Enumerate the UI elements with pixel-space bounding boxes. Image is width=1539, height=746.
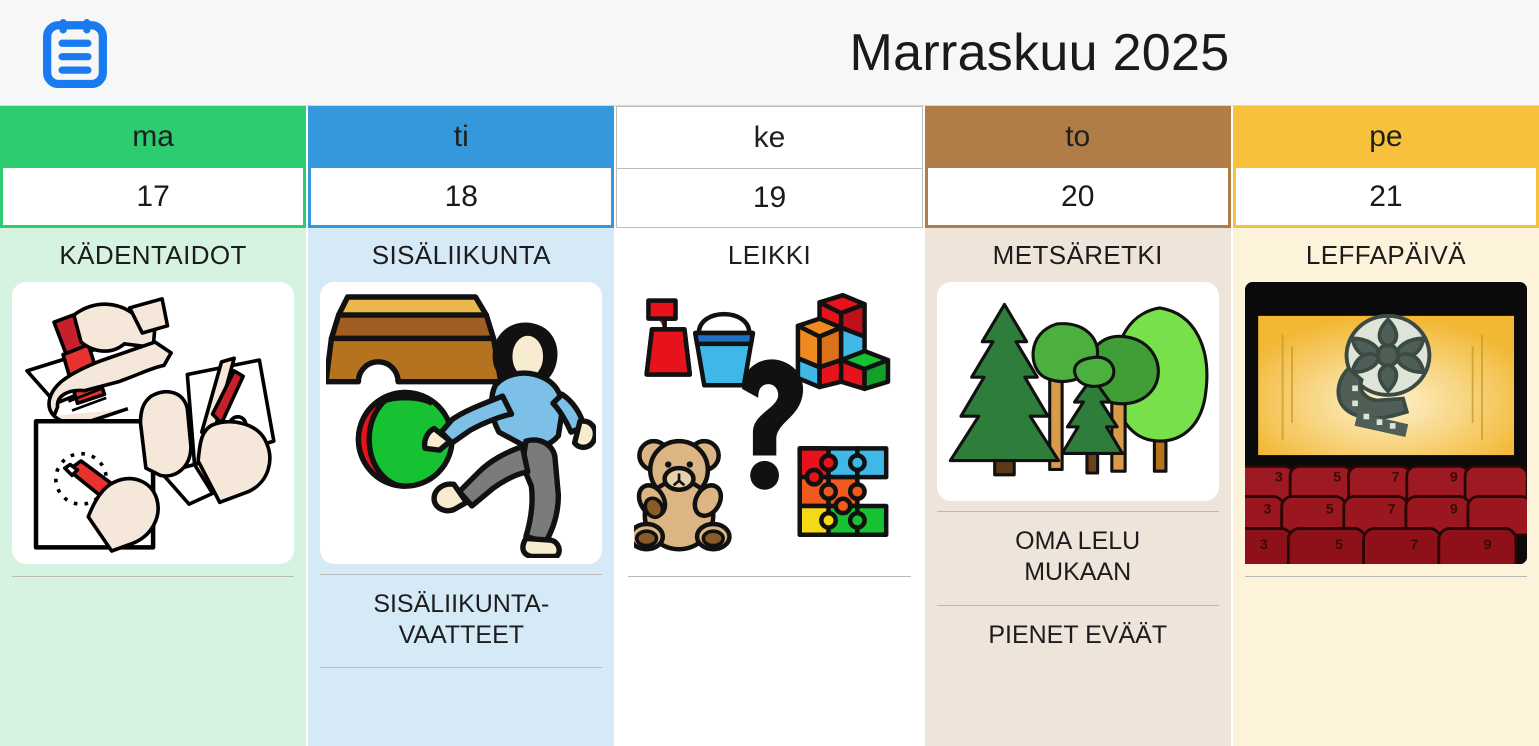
activity-label-ma: KÄDENTAIDOT [59, 231, 246, 282]
day-name-ti: ti [308, 106, 614, 168]
activity-image-forest[interactable] [937, 282, 1219, 502]
day-column-pe: pe 21 LEFFAPÄIVÄ [1233, 106, 1539, 746]
activity-label-ke: LEIKKI [728, 231, 811, 282]
note-item: PIENET EVÄÄT [937, 605, 1219, 667]
seat-number: 5 [1333, 468, 1341, 484]
day-column-ma: ma 17 KÄDENTAIDOT [0, 106, 306, 746]
seat-number: 7 [1410, 536, 1418, 552]
notes-ti: SISÄLIIKUNTA- VAATTEET [320, 574, 602, 669]
divider-ke [628, 576, 910, 577]
divider-ma [12, 576, 294, 577]
day-name-ke: ke [616, 106, 922, 168]
seat-number: 3 [1275, 468, 1283, 484]
day-name-to: to [925, 106, 1231, 168]
note-item: SISÄLIIKUNTA- VAATTEET [320, 574, 602, 669]
day-name-ma: ma [0, 106, 306, 168]
day-body-ke: LEIKKI [616, 231, 922, 746]
app-header: Marraskuu 2025 [0, 0, 1539, 106]
day-date-ke[interactable]: 19 [616, 168, 922, 228]
divider-pe [1245, 576, 1527, 577]
seat-number: 7 [1388, 500, 1396, 516]
activity-image-crafts[interactable] [12, 282, 294, 564]
activity-label-pe: LEFFAPÄIVÄ [1306, 231, 1466, 282]
seat-number: 9 [1450, 500, 1458, 516]
activity-label-ti: SISÄLIIKUNTA [372, 231, 551, 282]
day-column-ti: ti 18 SISÄLIIKUNTA [308, 106, 614, 746]
activity-image-indoor-sports[interactable] [320, 282, 602, 564]
seat-number: 9 [1450, 468, 1458, 484]
seat-number: 5 [1335, 536, 1343, 552]
day-date-pe[interactable]: 21 [1233, 168, 1539, 228]
day-body-to: METSÄRETKI [925, 231, 1231, 746]
activity-image-cinema[interactable]: 3 5 7 9 3 5 7 9 3 5 7 9 [1245, 282, 1527, 564]
activity-image-play[interactable] [628, 282, 910, 564]
day-column-to: to 20 METSÄRETKI [925, 106, 1231, 746]
calendar-app: Marraskuu 2025 ma 17 KÄDENTAIDOT [0, 0, 1539, 746]
day-date-ti[interactable]: 18 [308, 168, 614, 228]
day-body-pe: LEFFAPÄIVÄ [1233, 231, 1539, 746]
activity-label-to: METSÄRETKI [993, 231, 1163, 282]
day-body-ma: KÄDENTAIDOT [0, 231, 306, 746]
day-name-pe: pe [1233, 106, 1539, 168]
seat-number: 7 [1391, 468, 1399, 484]
seat-number: 3 [1260, 536, 1268, 552]
seat-number: 3 [1263, 500, 1271, 516]
day-body-ti: SISÄLIIKUNTA [308, 231, 614, 746]
note-item: OMA LELU MUKAAN [937, 511, 1219, 605]
seat-number: 5 [1326, 500, 1334, 516]
seat-number: 9 [1484, 536, 1492, 552]
page-title: Marraskuu 2025 [0, 23, 1539, 83]
day-column-ke: ke 19 LEIKKI [616, 106, 922, 746]
day-date-ma[interactable]: 17 [0, 168, 306, 228]
week-grid: ma 17 KÄDENTAIDOT [0, 106, 1539, 746]
day-date-to[interactable]: 20 [925, 168, 1231, 228]
notes-to: OMA LELU MUKAAN PIENET EVÄÄT [937, 511, 1219, 667]
